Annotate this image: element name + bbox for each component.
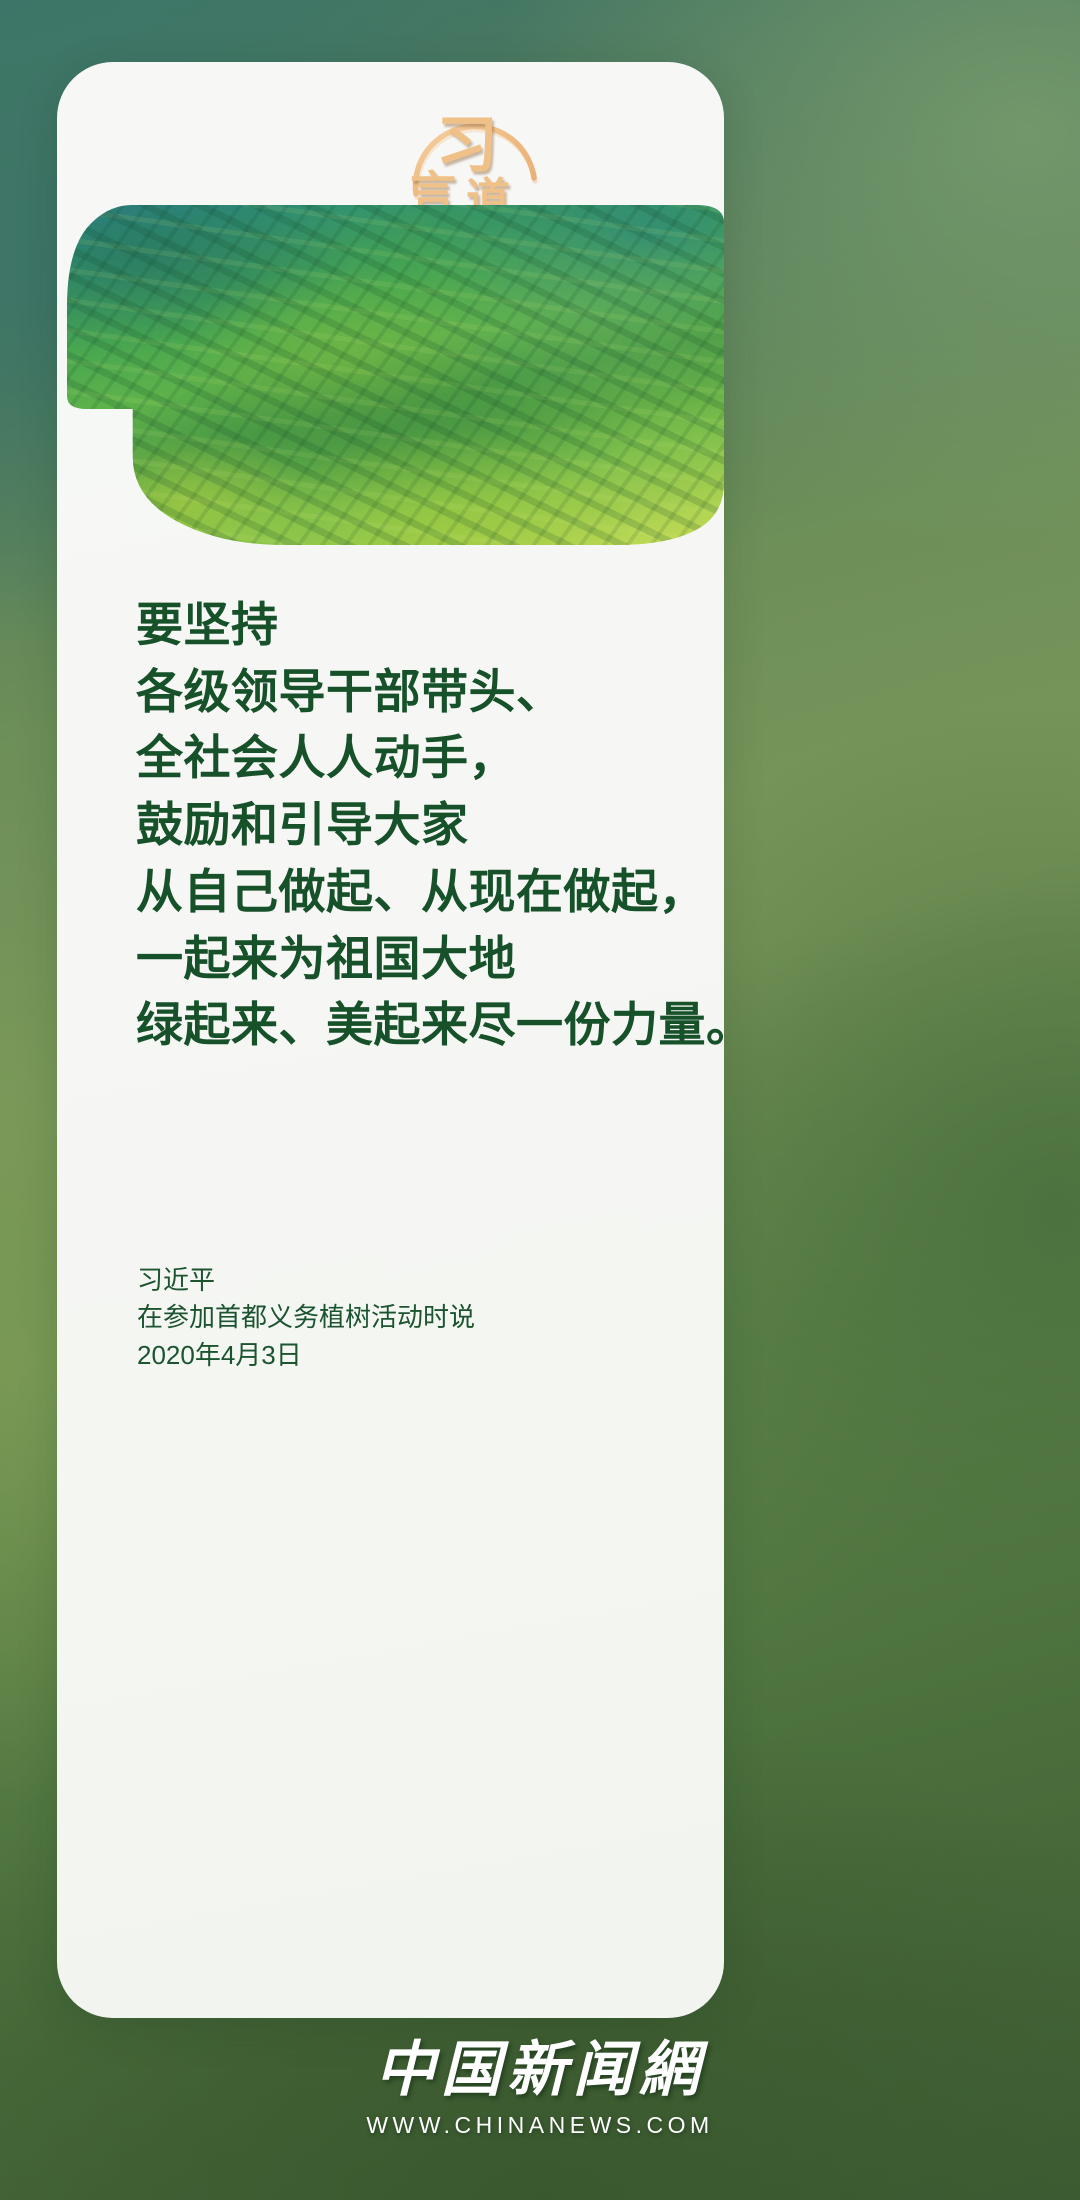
quote-line-3: 全社会人人动手，	[136, 725, 696, 792]
poster-root: { "brand": { "logo_chars": ["习", "言", "道…	[0, 0, 1080, 2200]
quote-line-6: 一起来为祖国大地	[136, 926, 696, 993]
chinanews-wordmark: 中国新闻網	[0, 2040, 1080, 2100]
hero-photo-image	[67, 205, 724, 545]
footer-branding: 中国新闻網 WWW.CHINANEWS.COM	[0, 2040, 1080, 2137]
hero-photo	[67, 205, 724, 545]
attribution-block: 习近平 在参加首都义务植树活动时说 2020年4月3日	[137, 1262, 475, 1374]
attribution-date: 2020年4月3日	[137, 1337, 475, 1374]
attribution-occasion: 在参加首都义务植树活动时说	[137, 1299, 475, 1336]
quote-line-4: 鼓励和引导大家	[136, 792, 696, 859]
quote-line-7: 绿起来、美起来尽一份力量。	[136, 992, 696, 1059]
quote-block: 要坚持 各级领导干部带头、 全社会人人动手， 鼓励和引导大家 从自己做起、从现在…	[136, 592, 696, 1059]
poster-card: 习 言 道 要坚持 各级领导干部带头、 全社会人人动手， 鼓励和引导大家 从自己…	[57, 62, 724, 2018]
quote-line-1: 要坚持	[136, 592, 696, 659]
quote-line-5: 从自己做起、从现在做起，	[136, 859, 696, 926]
chinanews-url: WWW.CHINANEWS.COM	[0, 2114, 1080, 2137]
attribution-speaker: 习近平	[137, 1262, 475, 1299]
quote-line-2: 各级领导干部带头、	[136, 659, 696, 726]
